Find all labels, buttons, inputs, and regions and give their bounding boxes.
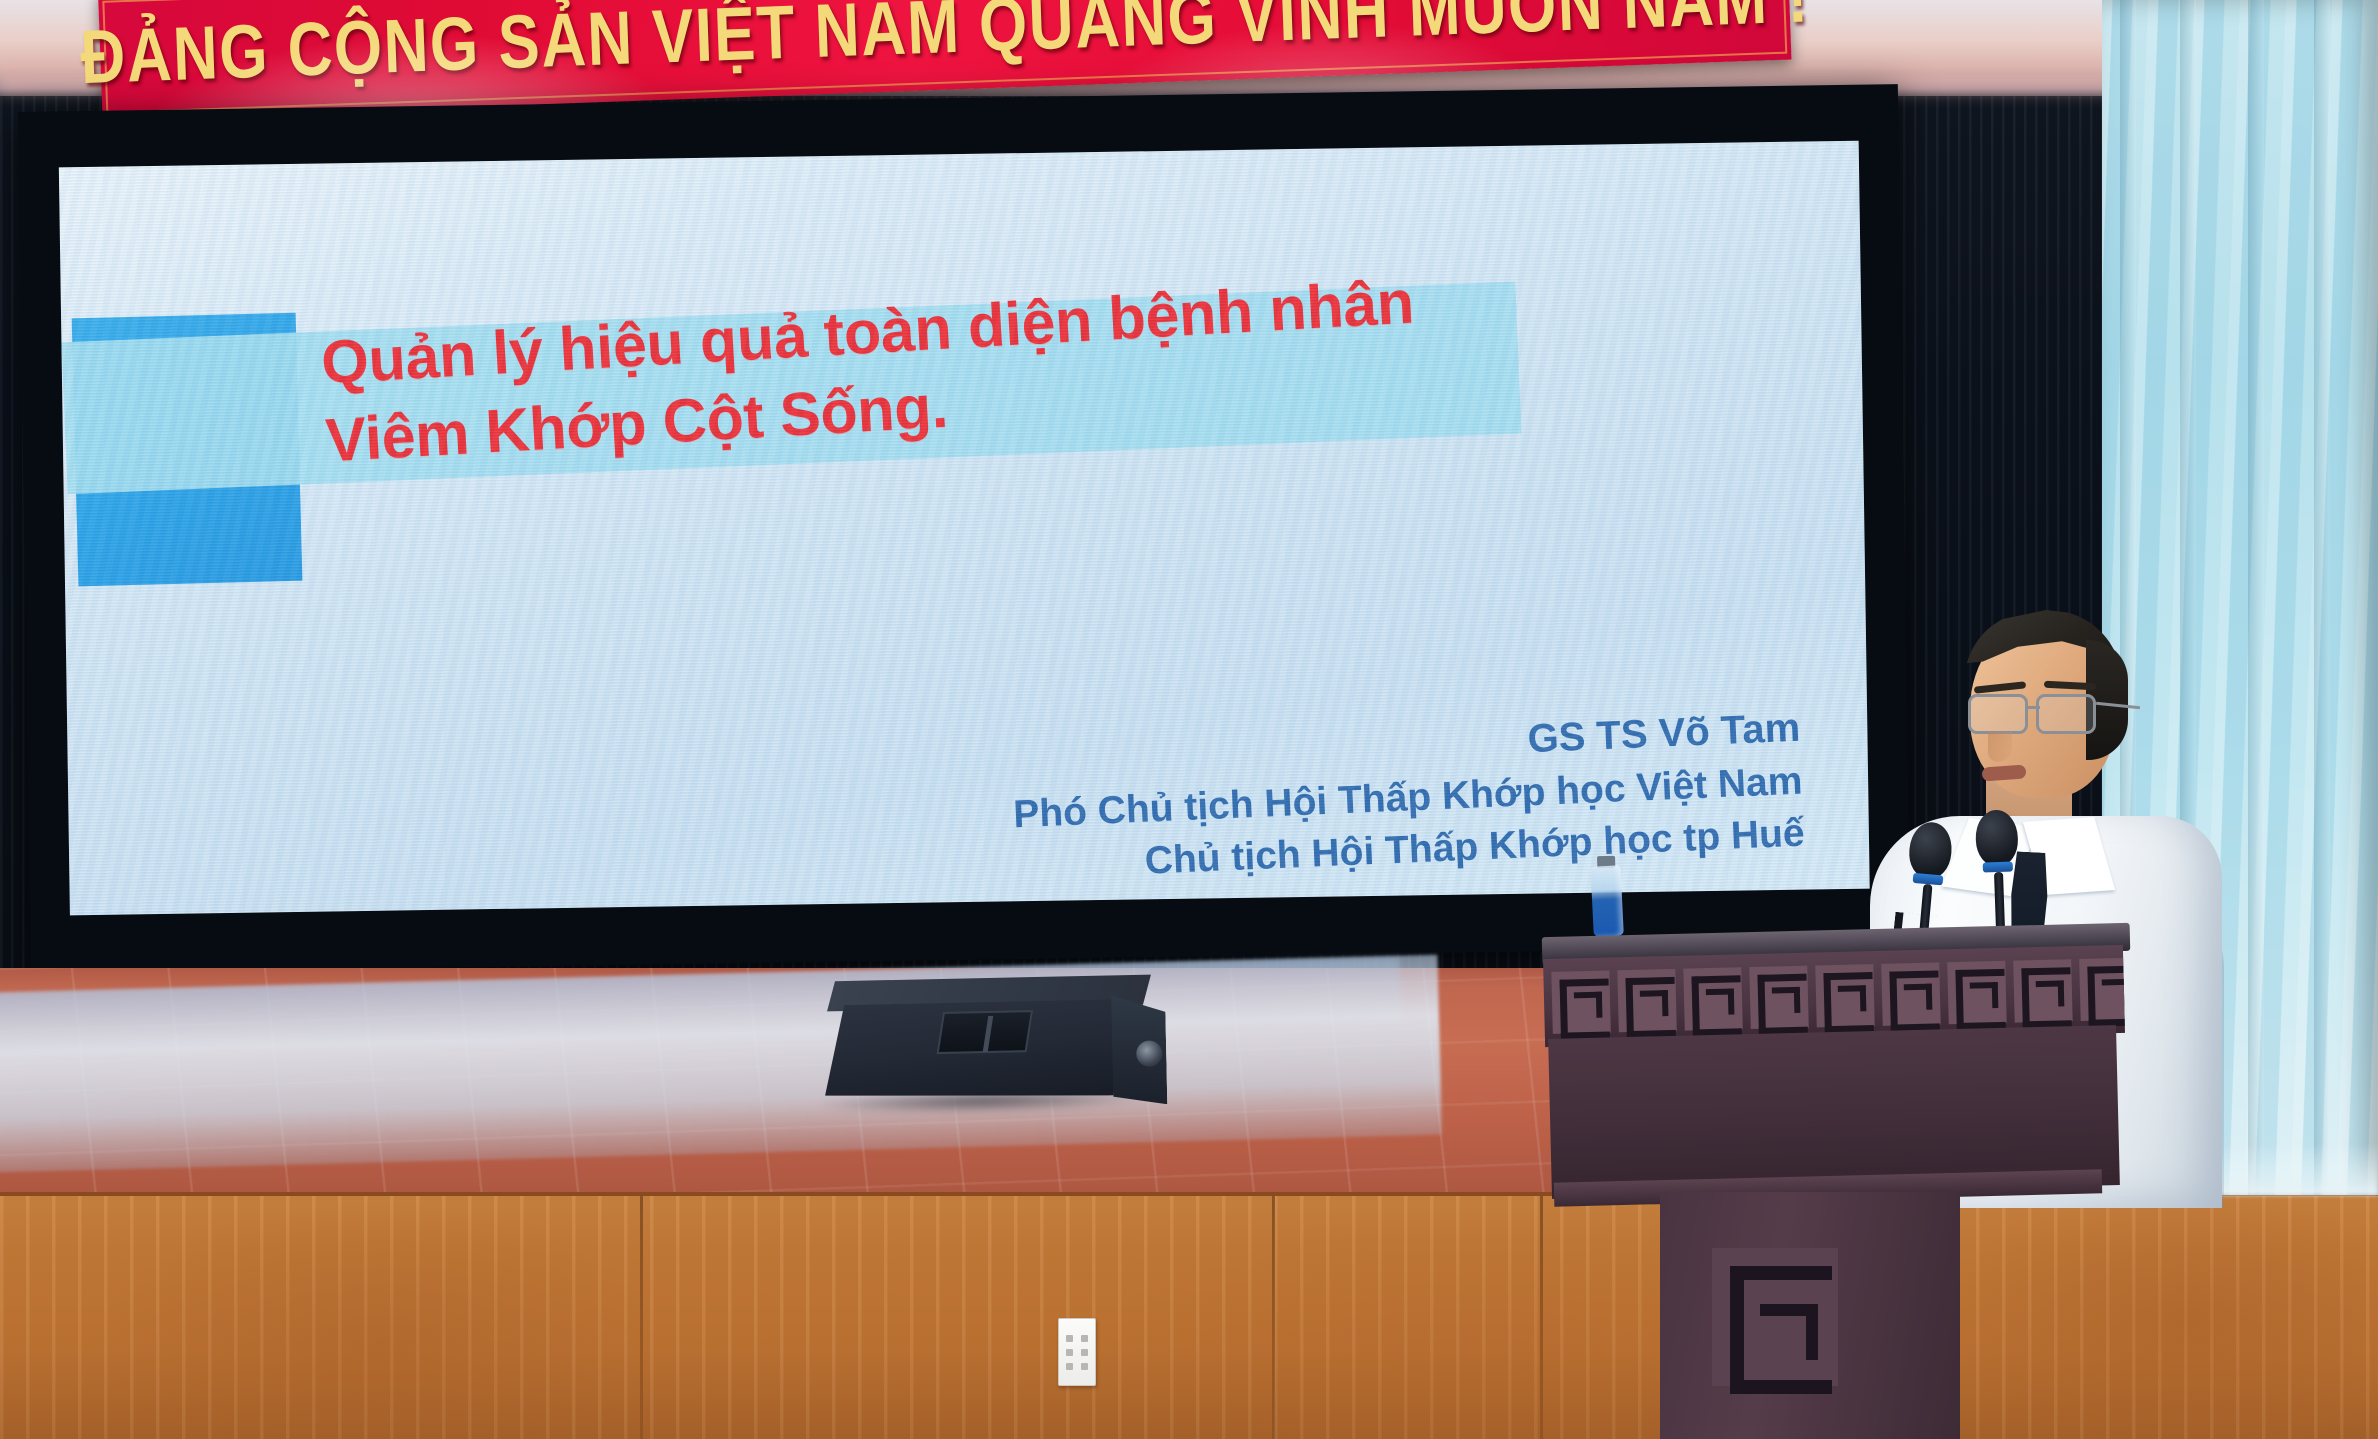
glasses-lens-left bbox=[1968, 694, 2028, 734]
water-bottle[interactable] bbox=[1589, 856, 1625, 937]
led-screen-frame: Quản lý hiệu quả toàn diện bệnh nhân Viê… bbox=[18, 84, 1911, 974]
meander-motif bbox=[1881, 962, 1940, 1025]
speaker-port bbox=[937, 1010, 1034, 1054]
switch-row[interactable] bbox=[1066, 1363, 1088, 1370]
meander-motif bbox=[2013, 959, 2072, 1022]
meander-motif bbox=[1617, 969, 1676, 1032]
curtain-fold bbox=[2314, 0, 2330, 1195]
scene-root: ĐẢNG CỘNG SẢN VIỆT NAM QUANG VINH MUÔN N… bbox=[0, 0, 2378, 1439]
podium-column-meander-panel bbox=[1712, 1248, 1838, 1386]
meander-motif bbox=[1749, 966, 1808, 1029]
meander-motif bbox=[1683, 967, 1742, 1030]
switch-button[interactable] bbox=[1081, 1349, 1088, 1356]
meander-motif bbox=[1947, 961, 2006, 1024]
wall-light-switch[interactable] bbox=[1058, 1318, 1096, 1386]
apron-seam bbox=[1272, 1196, 1275, 1439]
microphone-accent-ring bbox=[1983, 862, 2013, 873]
bottle-body bbox=[1590, 865, 1623, 936]
microphone-head bbox=[1907, 821, 1954, 880]
meander-motif bbox=[1815, 964, 1874, 1027]
speaker-podium bbox=[1542, 930, 2152, 1439]
meander-motif bbox=[1551, 970, 1610, 1033]
glasses-lens-right bbox=[2036, 694, 2096, 734]
switch-button[interactable] bbox=[1081, 1363, 1088, 1370]
stage-monitor-speaker bbox=[823, 975, 1156, 1110]
switch-button[interactable] bbox=[1066, 1335, 1073, 1342]
glasses-bridge bbox=[2028, 706, 2040, 709]
microphone-head bbox=[1975, 809, 2019, 866]
podium-column bbox=[1660, 1192, 1960, 1439]
eyeglasses bbox=[1964, 694, 2134, 736]
switch-button[interactable] bbox=[1066, 1349, 1073, 1356]
switch-row[interactable] bbox=[1066, 1335, 1088, 1342]
glasses-temple-arm bbox=[2096, 702, 2140, 710]
slide-presenter-credits: GS TS Võ Tam Phó Chủ tịch Hội Thấp Khớp … bbox=[900, 702, 1806, 898]
switch-button[interactable] bbox=[1066, 1363, 1073, 1370]
meander-motif bbox=[2079, 958, 2125, 1021]
apron-seam bbox=[640, 1196, 643, 1439]
switch-button[interactable] bbox=[1081, 1335, 1088, 1342]
presentation-slide[interactable]: Quản lý hiệu quả toàn diện bệnh nhân Viê… bbox=[59, 141, 1870, 916]
switch-row[interactable] bbox=[1066, 1349, 1088, 1356]
